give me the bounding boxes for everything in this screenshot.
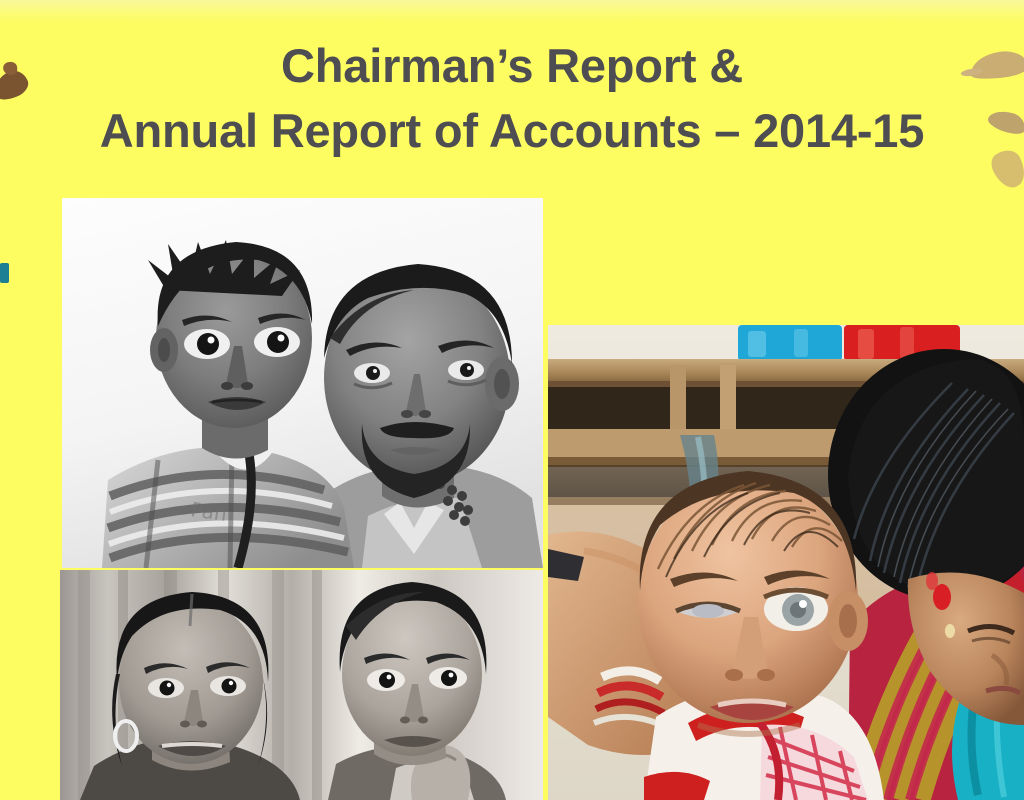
page-title: Chairman’s Report & Annual Report of Acc… xyxy=(0,34,1024,164)
title-line-2: Annual Report of Accounts – 2014-15 xyxy=(0,99,1024,164)
photo-color-mother-and-toddler-image xyxy=(548,325,1024,800)
photo-bw-woman-and-child-image xyxy=(60,570,543,800)
photo-bw-woman-and-child xyxy=(60,570,543,800)
photo-bw-child-and-man: Pan xyxy=(62,198,543,568)
left-teal-marker-icon xyxy=(0,263,9,283)
photo-color-mother-and-toddler xyxy=(548,325,1024,800)
title-line-1: Chairman’s Report & xyxy=(0,34,1024,99)
svg-text:Pan: Pan xyxy=(189,497,228,526)
top-edge-sheen xyxy=(0,0,1024,22)
photo-bw-child-and-man-image: Pan xyxy=(62,198,543,568)
slide-canvas: Chairman’s Report & Annual Report of Acc… xyxy=(0,0,1024,800)
